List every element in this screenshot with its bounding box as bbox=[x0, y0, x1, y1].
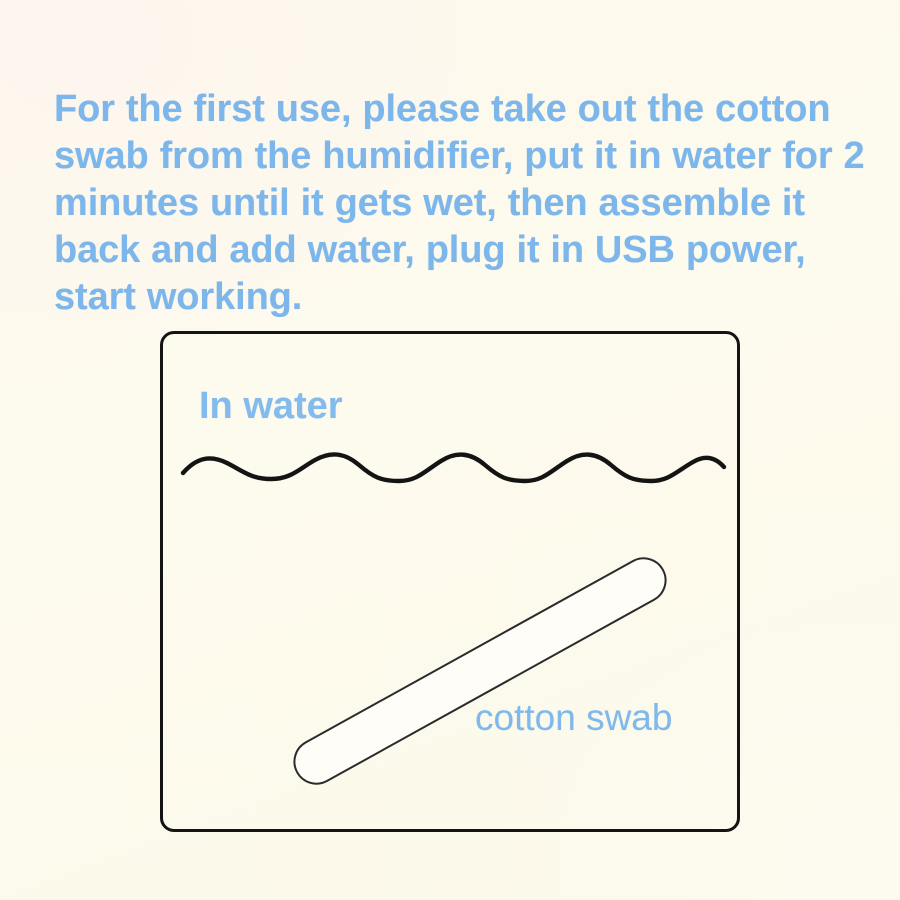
cotton-swab-illustration bbox=[258, 546, 703, 796]
illustration-frame: In water cotton swab bbox=[160, 331, 740, 832]
wavy-water-line bbox=[181, 447, 726, 487]
instruction-paragraph: For the first use, please take out the c… bbox=[54, 86, 866, 321]
in-water-label: In water bbox=[199, 386, 343, 426]
instruction-card: For the first use, please take out the c… bbox=[0, 0, 900, 900]
cotton-swab-label: cotton swab bbox=[475, 699, 672, 737]
